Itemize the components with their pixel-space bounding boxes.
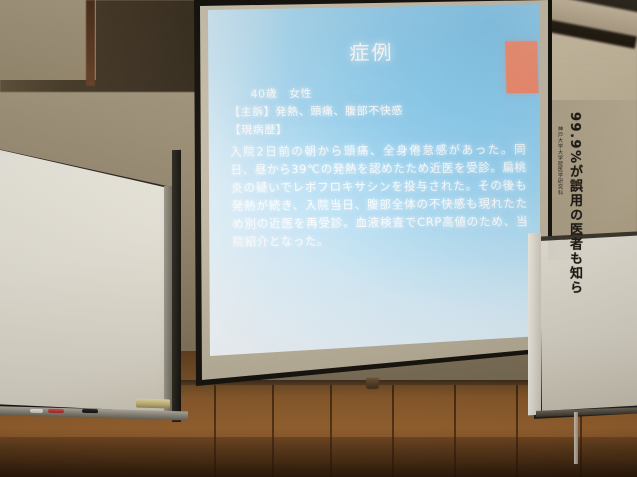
poster-subtext: 神戸大学大学院医学研究科 xyxy=(556,126,563,196)
poster-headline: 99.9%が誤用の医者も知ら xyxy=(566,112,583,295)
slide-background: 症例 40歳 女性 【主訴】発熱、頭痛、腹部不快感 【現病歴】 入院2日前の朝か… xyxy=(200,4,540,364)
slide-title: 症例 xyxy=(201,35,540,67)
lecture-room-scene: 症例 40歳 女性 【主訴】発熱、頭痛、腹部不快感 【現病歴】 入院2日前の朝か… xyxy=(0,0,637,477)
left-whiteboard-surface[interactable] xyxy=(0,148,174,418)
history-label: 【現病歴】 xyxy=(229,119,526,139)
ceiling-trim xyxy=(86,0,95,86)
projection-screen-surface[interactable]: 症例 40歳 女性 【主訴】発熱、頭痛、腹部不快感 【現病歴】 入院2日前の朝か… xyxy=(200,4,540,364)
right-whiteboard-side xyxy=(528,233,541,416)
left-whiteboard-post xyxy=(172,150,181,422)
slide-body: 40歳 女性 【主訴】発熱、頭痛、腹部不快感 【現病歴】 入院2日前の朝から頭痛… xyxy=(228,83,529,251)
red-marker[interactable] xyxy=(48,409,64,413)
ceiling-left-strip xyxy=(0,0,96,80)
black-marker[interactable] xyxy=(82,409,98,413)
history-paragraph: 入院2日前の朝から頭痛、全身倦怠感があった。同日、昼から39℃の発熱を認めたため… xyxy=(230,140,529,251)
wall-poster: 99.9%が誤用の医者も知ら 神戸大学大学院医学研究科 xyxy=(556,112,630,244)
chief-complaint-line: 【主訴】発熱、頭痛、腹部不快感 xyxy=(229,101,526,121)
whiteboard-eraser[interactable] xyxy=(136,399,170,409)
right-whiteboard-leg xyxy=(574,412,578,464)
right-whiteboard-surface[interactable] xyxy=(534,235,637,415)
patient-info-line: 40歳 女性 xyxy=(228,83,525,103)
slide-content: 症例 40歳 女性 【主訴】発熱、頭痛、腹部不快感 【現病歴】 入院2日前の朝か… xyxy=(200,4,540,364)
screen-pull-tab[interactable] xyxy=(366,378,379,389)
wood-lower-shadow xyxy=(0,437,637,477)
white-marker[interactable] xyxy=(30,409,43,413)
